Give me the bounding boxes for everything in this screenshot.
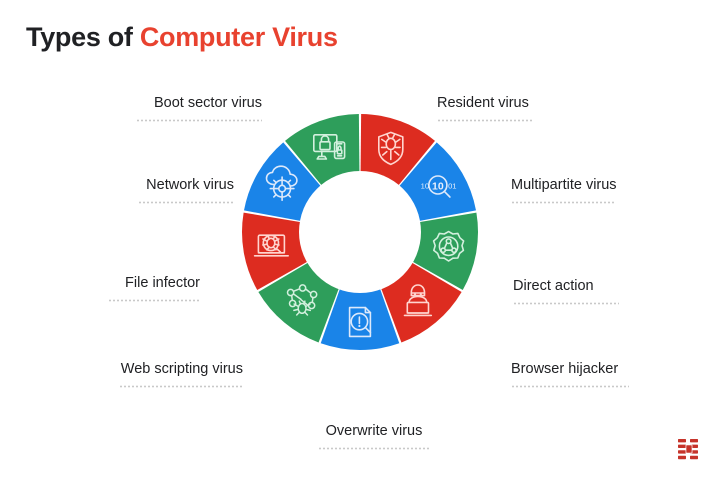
label-text: Web scripting virus (121, 361, 243, 377)
brand-logo-mark (676, 436, 702, 462)
binary-center-text: 10 (432, 180, 444, 192)
label-text: Overwrite virus (326, 423, 423, 439)
label-browser-hijacker[interactable]: Browser hijacker (511, 362, 717, 388)
infographic-canvas: Types of Computer Virus (0, 0, 720, 480)
donut-center-hole (299, 171, 421, 293)
label-dot-leader (513, 302, 619, 305)
label-direct-action[interactable]: Direct action (513, 279, 713, 305)
label-text: Resident virus (437, 95, 529, 111)
label-text: Boot sector virus (154, 95, 262, 111)
label-resident-virus[interactable]: Resident virus (437, 96, 637, 122)
page-title: Types of Computer Virus (26, 22, 338, 53)
label-dot-leader (511, 385, 629, 388)
label-dot-leader (511, 201, 615, 204)
label-dot-leader (119, 385, 243, 388)
label-overwrite-virus[interactable]: Overwrite virus (250, 424, 498, 450)
label-multipartite-virus[interactable]: Multipartite virus (511, 178, 715, 204)
label-text: File infector (125, 275, 200, 291)
page-title-highlight: Computer Virus (140, 22, 338, 52)
page-title-prefix: Types of (26, 22, 140, 52)
label-dot-leader (437, 119, 533, 122)
label-network-virus[interactable]: Network virus (0, 178, 234, 204)
brand-logo-svg (676, 436, 702, 462)
label-text: Direct action (513, 278, 594, 294)
label-boot-sector-virus[interactable]: Boot sector virus (0, 96, 262, 122)
virus-types-donut-chart: 10 10 01 (242, 114, 478, 350)
binary-left-text: 10 (421, 182, 429, 191)
label-file-infector[interactable]: File infector (0, 276, 200, 302)
label-dot-leader (138, 201, 234, 204)
label-web-scripting-virus[interactable]: Web scripting virus (0, 362, 243, 388)
label-dot-leader (108, 299, 200, 302)
label-text: Multipartite virus (511, 177, 617, 193)
label-text: Network virus (146, 177, 234, 193)
label-text: Browser hijacker (511, 361, 618, 377)
label-dot-leader (136, 119, 262, 122)
binary-right-text: 01 (448, 182, 456, 191)
label-dot-leader (318, 447, 430, 450)
